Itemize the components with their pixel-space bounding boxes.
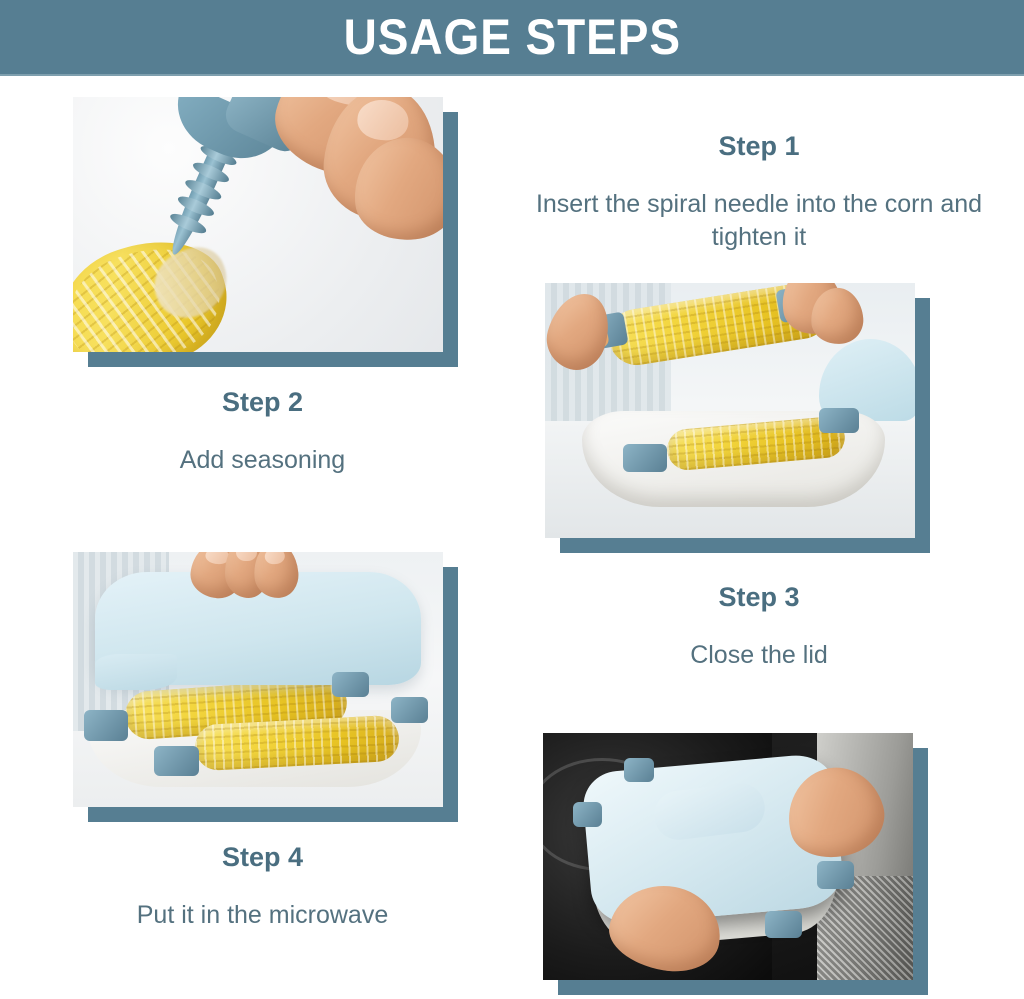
- caption-step-1: Step 1 Insert the spiral needle into the…: [524, 132, 994, 254]
- lid-notch-shape: [95, 654, 176, 690]
- blue-holder-shape: [573, 802, 603, 827]
- placing-dish-in-microwave-photo: [543, 733, 913, 980]
- step-1-title: Step 1: [524, 132, 994, 162]
- blue-holder-shape: [819, 408, 860, 434]
- step-2-title: Step 2: [40, 388, 485, 418]
- step-4-description: Put it in the microwave: [40, 899, 485, 932]
- photo-frame-step-2: [73, 97, 443, 352]
- caption-step-2: Step 2 Add seasoning: [40, 388, 485, 477]
- blue-holder-shape: [817, 861, 854, 888]
- blue-holder-shape: [624, 758, 654, 783]
- blue-holder-shape: [391, 697, 428, 723]
- photo-frame-step-3: [73, 552, 443, 807]
- step-4-title: Step 4: [40, 843, 485, 873]
- closing-lid-over-corn-photo: [73, 552, 443, 807]
- photo-frame-step-4: [543, 733, 913, 980]
- fingernail-shape: [236, 552, 256, 561]
- blue-holder-shape: [154, 746, 198, 777]
- step-3-description: Close the lid: [524, 639, 994, 672]
- photo-frame-step-1: [545, 283, 915, 538]
- step-2-description: Add seasoning: [40, 444, 485, 477]
- page-title: USAGE STEPS: [343, 12, 680, 62]
- blue-holder-shape: [84, 710, 128, 741]
- usage-steps-infographic: USAGE STEPS Step 1 Insert the spi: [0, 0, 1024, 999]
- blue-holder-shape: [332, 672, 369, 698]
- blue-holder-shape: [623, 444, 667, 472]
- caption-step-3: Step 3 Close the lid: [524, 583, 994, 672]
- fingernail-shape: [355, 98, 410, 143]
- caption-step-4: Step 4 Put it in the microwave: [40, 843, 485, 932]
- fingernail-shape: [264, 552, 286, 565]
- blue-holder-shape: [765, 911, 802, 938]
- spiral-needle-into-corn-photo: [73, 97, 443, 352]
- step-1-description: Insert the spiral needle into the corn a…: [524, 188, 994, 254]
- step-3-title: Step 3: [524, 583, 994, 613]
- corn-with-holders-and-tray-photo: [545, 283, 915, 538]
- header-banner: USAGE STEPS: [0, 0, 1024, 76]
